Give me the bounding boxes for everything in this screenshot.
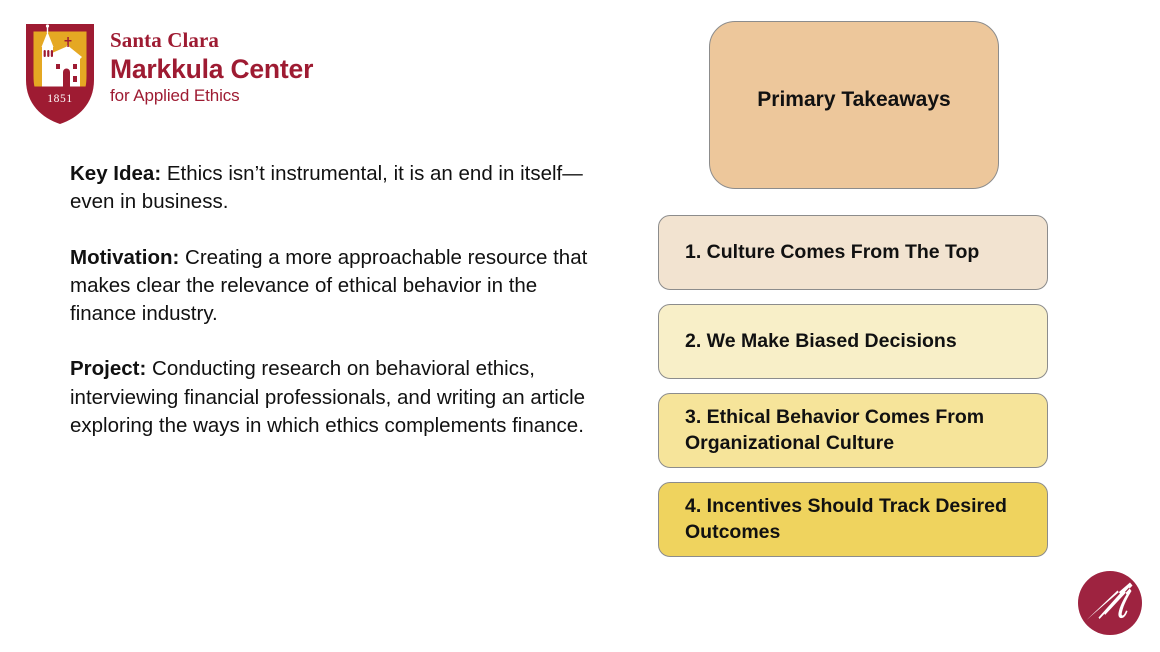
takeaway-item-1-label: 1. Culture Comes From The Top [685, 240, 979, 266]
brand-line-markkula-center: Markkula Center [110, 56, 313, 83]
takeaway-item-2-label: 2. We Make Biased Decisions [685, 329, 957, 355]
body-copy: Key Idea: Ethics isn’t instrumental, it … [70, 160, 600, 440]
takeaway-item-3: 3. Ethical Behavior Comes From Organizat… [658, 393, 1048, 468]
takeaway-item-4-label: 4. Incentives Should Track Desired Outco… [685, 494, 1021, 546]
takeaway-item-2: 2. We Make Biased Decisions [658, 304, 1048, 379]
slide-canvas: 1851 Santa Clara Markkula Center for App… [0, 0, 1160, 652]
primary-takeaways-title: Primary Takeaways [757, 88, 950, 112]
paragraph-text-project: Conducting research on behavioral ethics… [70, 357, 585, 437]
paragraph-lead-motivation: Motivation: [70, 246, 179, 269]
takeaway-item-1: 1. Culture Comes From The Top [658, 215, 1048, 290]
paragraph-key-idea: Key Idea: Ethics isn’t instrumental, it … [70, 160, 600, 217]
monogram-circle [1078, 571, 1142, 635]
paragraph-lead-key-idea: Key Idea: [70, 162, 161, 185]
brand-line-santa-clara: Santa Clara [110, 30, 313, 51]
brand-line-for-applied-ethics: for Applied Ethics [110, 87, 313, 104]
scu-mission-shield-icon: 1851 [22, 20, 98, 128]
markkula-m-monogram-icon [1074, 567, 1146, 639]
brand-wordmark: Santa Clara Markkula Center for Applied … [110, 20, 313, 104]
takeaway-item-3-label: 3. Ethical Behavior Comes From Organizat… [685, 405, 1021, 457]
shield-year-text: 1851 [47, 93, 72, 105]
primary-takeaways-header-box: Primary Takeaways [709, 21, 999, 189]
takeaway-list: 1. Culture Comes From The Top 2. We Make… [658, 215, 1048, 557]
markkula-center-logo: 1851 Santa Clara Markkula Center for App… [22, 20, 352, 135]
paragraph-lead-project: Project: [70, 357, 146, 380]
paragraph-project: Project: Conducting research on behavior… [70, 355, 600, 440]
paragraph-motivation: Motivation: Creating a more approachable… [70, 244, 600, 329]
takeaway-item-4: 4. Incentives Should Track Desired Outco… [658, 482, 1048, 557]
